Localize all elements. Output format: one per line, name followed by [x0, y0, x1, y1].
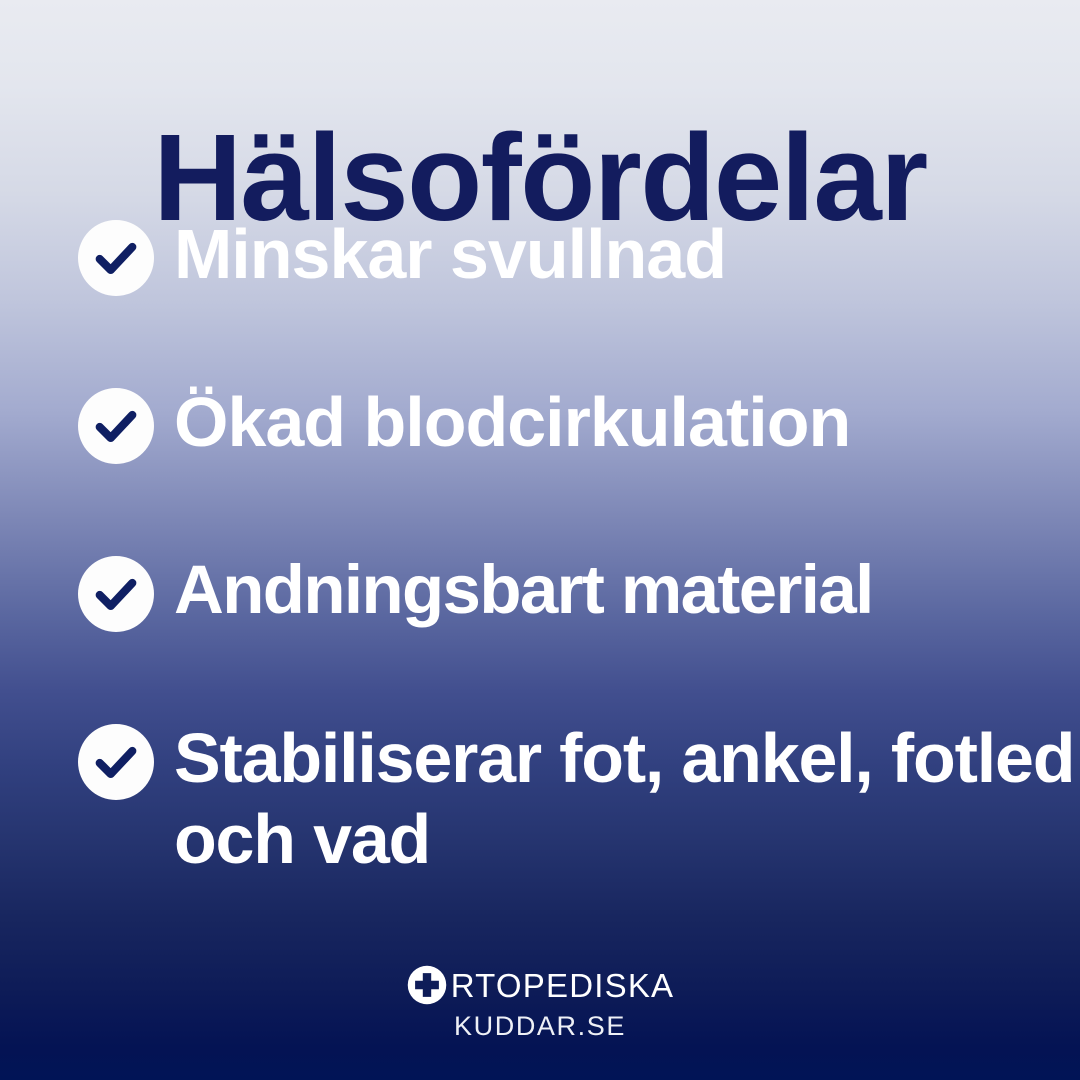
list-item: Stabiliserar fot, ankel, fotled och vad [78, 718, 1078, 880]
check-circle-icon [78, 220, 154, 296]
brand-logo-primary-row: RTOPEDISKA [406, 964, 675, 1006]
list-item: Andningsbart material [78, 550, 1078, 632]
list-item: Ökad blodcirkulation [78, 382, 1078, 464]
benefit-label: Andningsbart material [174, 550, 873, 630]
check-circle-icon [78, 388, 154, 464]
brand-domain: KUDDAR.SE [454, 1013, 626, 1040]
brand-name: RTOPEDISKA [451, 969, 675, 1002]
benefit-label: Stabiliserar fot, ankel, fotled och vad [174, 718, 1078, 880]
benefit-label: Ökad blodcirkulation [174, 382, 850, 463]
benefits-list: Minskar svullnad Ökad blodcirkulation An… [78, 214, 1078, 880]
medical-cross-circle-icon [406, 964, 448, 1006]
brand-logo: RTOPEDISKA KUDDAR.SE [0, 964, 1080, 1040]
check-circle-icon [78, 556, 154, 632]
list-item: Minskar svullnad [78, 214, 1078, 296]
benefit-label: Minskar svullnad [174, 214, 726, 295]
check-circle-icon [78, 724, 154, 800]
poster-canvas: Hälsofördelar Minskar svullnad Ökad blod… [0, 0, 1080, 1080]
